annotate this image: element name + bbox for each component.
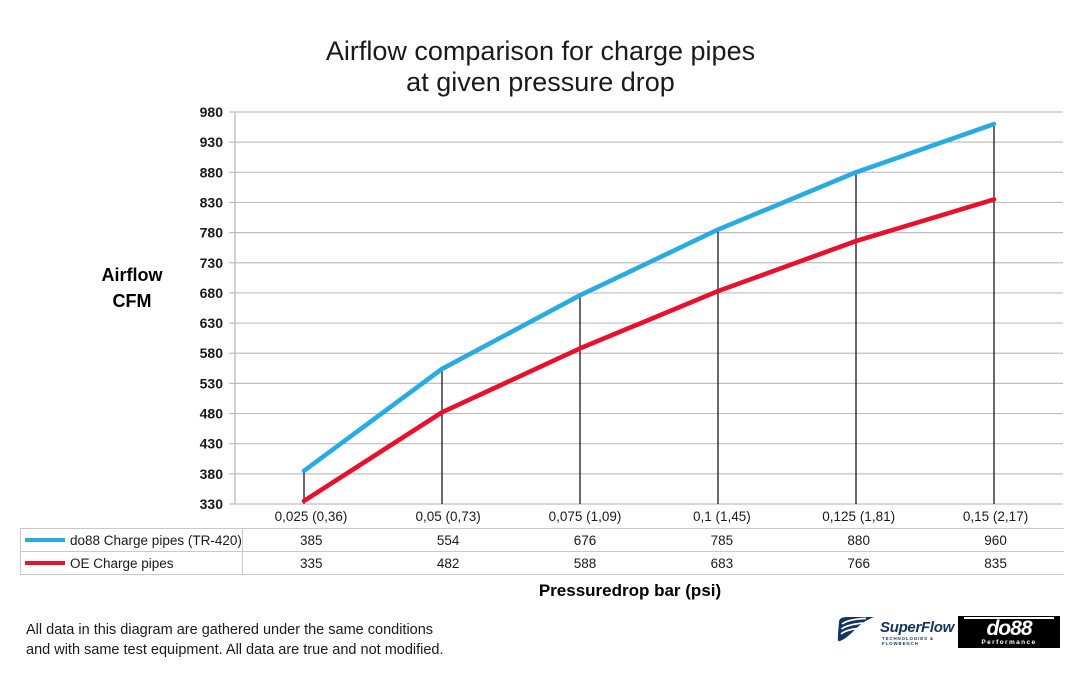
superflow-swoosh-icon [836, 616, 878, 644]
table-cell-value: 554 [380, 529, 517, 552]
legend-entry: OE Charge pipes [21, 552, 243, 575]
superflow-logo: SuperFlow TECHNOLOGIES & FLOWBENCH [836, 616, 943, 646]
y-axis-tick-label: 530 [200, 375, 224, 391]
data-table: 0,025 (0,36)0,05 (0,73)0,075 (1,09)0,1 (… [20, 504, 1064, 575]
y-axis-tick-label: 880 [200, 164, 224, 180]
x-axis-category-label: 0,05 (0,73) [380, 504, 517, 529]
series-line [304, 124, 994, 471]
x-axis-category-label: 0,025 (0,36) [242, 504, 379, 529]
table-cell-value: 676 [517, 529, 654, 552]
table-cell-value: 683 [653, 552, 790, 575]
legend-color-swatch [25, 561, 65, 565]
x-axis-category-label: 0,1 (1,45) [653, 504, 790, 529]
y-axis-tick-label: 830 [200, 194, 224, 210]
y-axis-tick-label: 980 [200, 104, 224, 120]
y-axis-tick-label: 780 [200, 225, 224, 241]
footnote-line-2: and with same test equipment. All data a… [26, 640, 586, 660]
legend-color-swatch [25, 538, 65, 542]
table-cell-value: 766 [790, 552, 927, 575]
series-line [304, 199, 994, 501]
x-axis-title: Pressuredrop bar (psi) [400, 581, 860, 601]
x-axis-category-label: 0,075 (1,09) [517, 504, 654, 529]
table-cell-value: 960 [927, 529, 1064, 552]
superflow-wordmark: SuperFlow [880, 619, 954, 636]
y-axis-tick-label: 380 [200, 466, 224, 482]
x-axis-category-label: 0,125 (1,81) [790, 504, 927, 529]
logo-row: SuperFlow TECHNOLOGIES & FLOWBENCH do88 … [836, 616, 1064, 650]
table-cell-value: 385 [242, 529, 379, 552]
table-header-blank [21, 504, 243, 529]
y-axis-tick-label: 730 [200, 255, 224, 271]
y-axis-tick-label: 480 [200, 406, 224, 422]
y-axis-tick-label: 930 [200, 134, 224, 150]
table-cell-value: 835 [927, 552, 1064, 575]
chart-canvas: Airflow comparison for charge pipes at g… [0, 0, 1081, 673]
y-axis-tick-label: 630 [200, 315, 224, 331]
table-cell-value: 335 [242, 552, 379, 575]
do88-tagline: Performance [958, 639, 1060, 646]
legend-label: do88 Charge pipes (TR-420) [70, 533, 242, 548]
table-cell-value: 482 [380, 552, 517, 575]
y-axis-tick-label: 580 [200, 345, 224, 361]
do88-wordmark: do88 [958, 617, 1060, 640]
table-cell-value: 588 [517, 552, 654, 575]
table-header-row: 0,025 (0,36)0,05 (0,73)0,075 (1,09)0,1 (… [21, 504, 1065, 529]
footnote-line-1: All data in this diagram are gathered un… [26, 620, 586, 640]
y-axis-tick-label: 430 [200, 436, 224, 452]
x-axis-category-label: 0,15 (2,17) [927, 504, 1064, 529]
do88-logo: do88 Performance [958, 616, 1060, 648]
table-cell-value: 880 [790, 529, 927, 552]
footnote: All data in this diagram are gathered un… [26, 620, 586, 660]
superflow-tagline: TECHNOLOGIES & FLOWBENCH [882, 636, 943, 646]
legend-entry: do88 Charge pipes (TR-420) [21, 529, 243, 552]
legend-label: OE Charge pipes [70, 556, 174, 571]
y-axis-tick-label: 680 [200, 285, 224, 301]
table-row: OE Charge pipes335482588683766835 [21, 552, 1065, 575]
table-cell-value: 785 [653, 529, 790, 552]
table-row: do88 Charge pipes (TR-420)38555467678588… [21, 529, 1065, 552]
